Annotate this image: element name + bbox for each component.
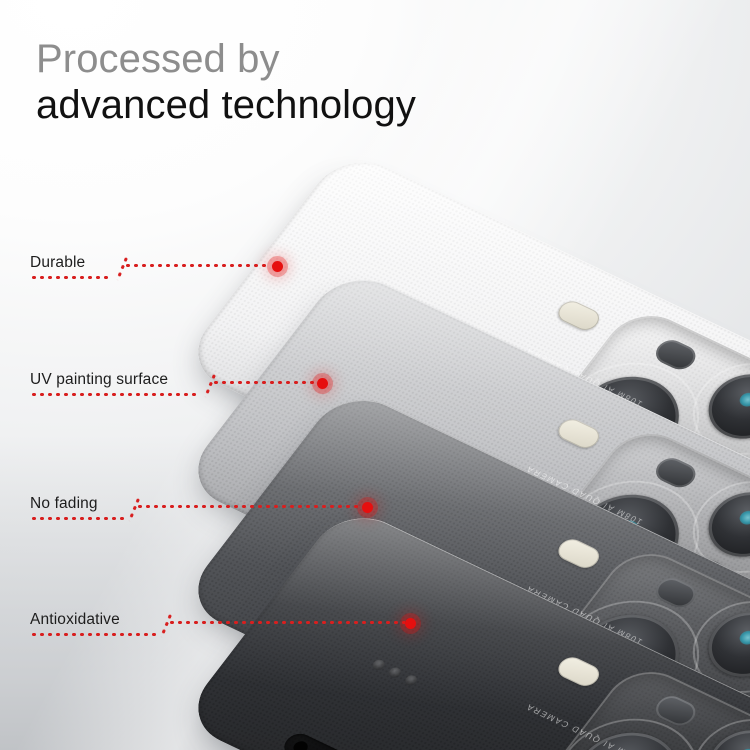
callout-leader-line [212,381,316,384]
callout-leader-line [168,621,405,624]
callout-underline [30,276,112,279]
callout-no-fading: No fading [30,495,126,520]
callout-label: Antioxidative [30,611,156,633]
callout-riser [160,612,173,637]
callout-leader-line [124,264,270,267]
callout-group: Durable UV painting surface No fading An… [0,0,750,750]
callout-underline [30,633,156,636]
callout-uv-painting-surface: UV painting surface [30,371,200,396]
product-feature-image: 108M AI QUAD CAMERA 108M AI QUA [0,0,750,750]
callout-label: Durable [30,254,112,276]
callout-label: No fading [30,495,126,517]
callout-riser [128,496,141,521]
callout-marker-dot [272,261,283,272]
callout-durable: Durable [30,254,112,279]
callout-antioxidative: Antioxidative [30,611,156,636]
callout-marker-dot [362,502,373,513]
callout-marker-dot [405,618,416,629]
callout-riser [116,255,129,280]
callout-leader-line [136,505,361,508]
callout-underline [30,517,126,520]
callout-underline [30,393,200,396]
callout-label: UV painting surface [30,371,200,393]
callout-riser [204,372,217,397]
callout-marker-dot [317,378,328,389]
